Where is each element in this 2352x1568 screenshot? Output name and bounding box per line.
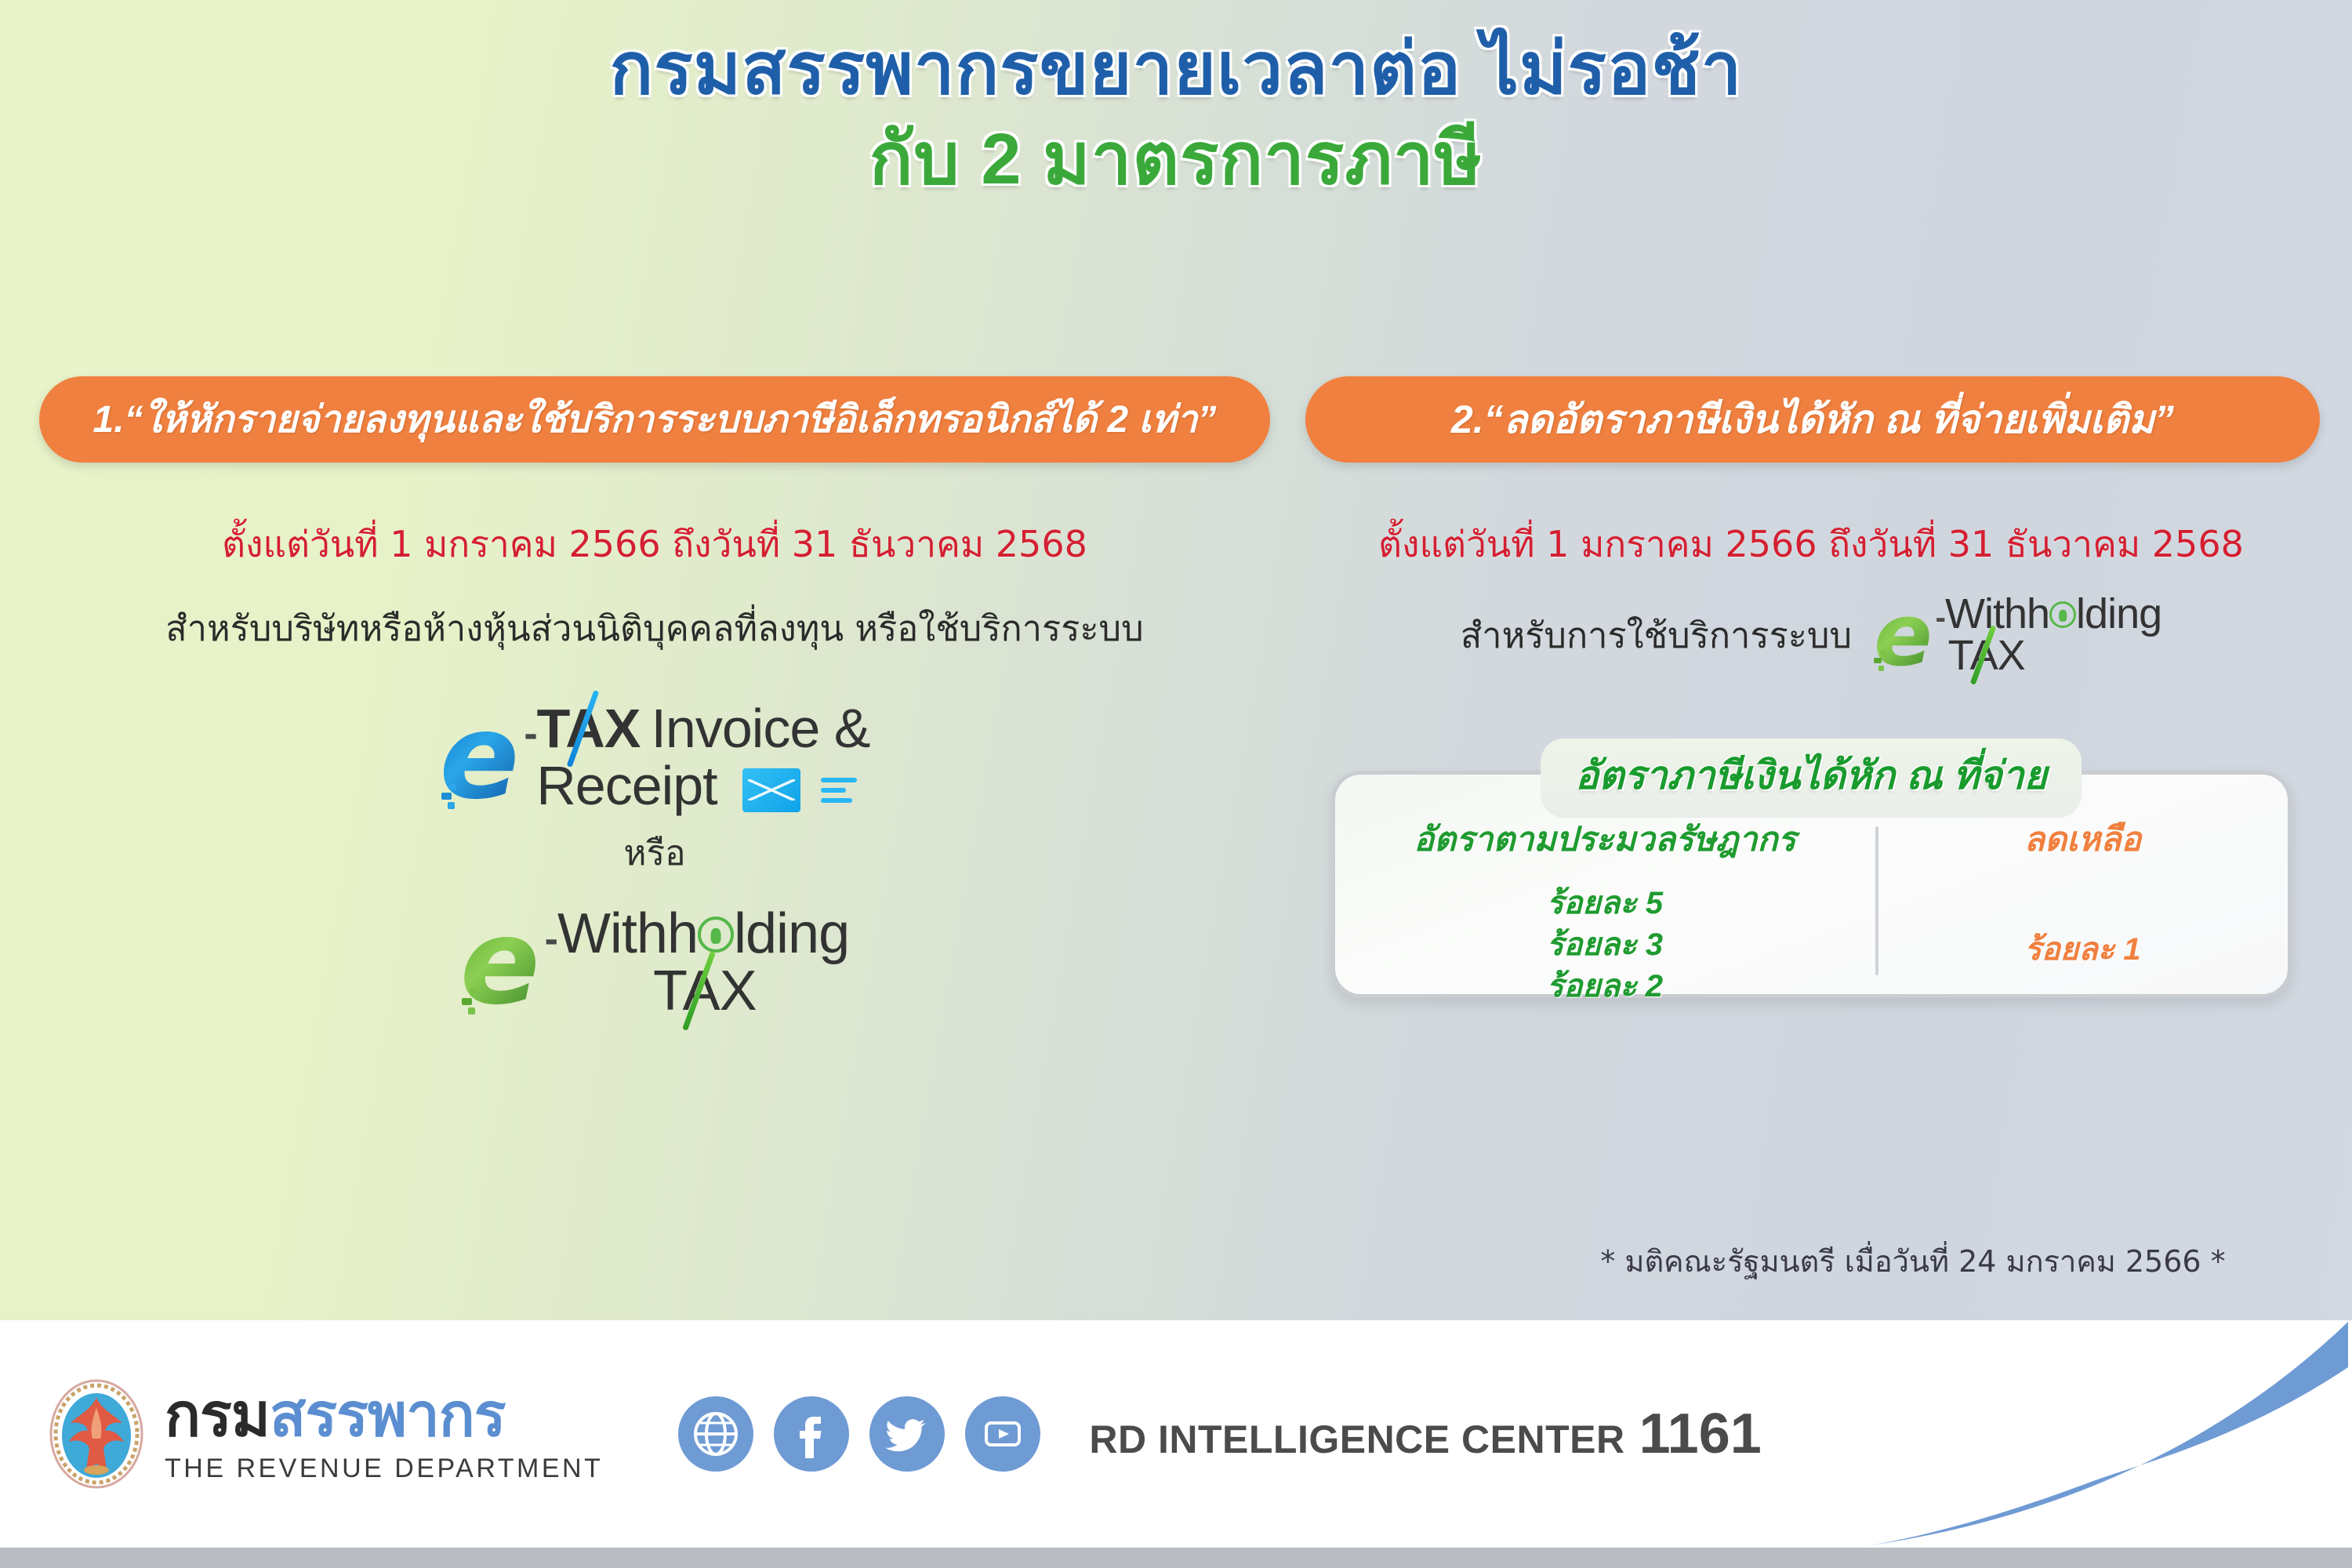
facebook-icon[interactable] — [774, 1396, 849, 1472]
social-icon-group — [678, 1396, 1040, 1472]
org-name-thai-main: สรรพากร — [270, 1382, 506, 1449]
etax-tax-word: TAX — [537, 702, 641, 756]
e-swoosh-green-icon: e — [460, 904, 540, 1022]
title-line-2: กับ 2 มาตรการภาษี — [0, 117, 2352, 202]
rdic-label: RD INTELLIGENCE CENTER — [1089, 1417, 1624, 1462]
etax-dash: - — [524, 711, 536, 757]
touch-pointer-icon — [698, 916, 734, 953]
ewht-word-part-1: Withh — [1945, 590, 2049, 637]
infographic-poster: กรมสรรพากรขยายเวลาต่อ ไม่รอช้า กับ 2 มาต… — [0, 0, 2352, 1568]
etax-invoice-word: Invoice & — [651, 698, 869, 759]
bottom-strip — [0, 1548, 2352, 1568]
rate-column-reduced: ลดเหลือ ร้อยละ 1 — [1878, 812, 2288, 994]
rate-column-header-statutory: อัตราตามประมวลรัษฎากร — [1335, 812, 1875, 866]
rate-column-header-reduced: ลดเหลือ — [1878, 812, 2288, 866]
cabinet-resolution-footnote: * มติคณะรัฐมนตรี เมื่อวันที่ 24 มกราคม 2… — [1521, 1237, 2305, 1285]
ewht-word-part-2: lding — [2076, 590, 2161, 637]
e-withholding-tax-logo-left: e -Withhlding TAX — [39, 904, 1270, 1022]
twitter-icon[interactable] — [869, 1396, 945, 1472]
ewht-dash: - — [1936, 601, 1945, 635]
ewht-tax-word: TAX — [653, 964, 757, 1019]
motion-dots-icon — [456, 986, 477, 1017]
measure-2-date-range: ตั้งแต่วันที่ 1 มกราคม 2566 ถึงวันที่ 31… — [1305, 516, 2317, 573]
ewht-dash: - — [545, 916, 557, 962]
measure-2-eligibility: สำหรับการใช้บริการระบบ — [1461, 607, 1852, 663]
rate-value: ร้อยละ 2 — [1335, 966, 1875, 1007]
rdic-phone-number: 1161 — [1639, 1402, 1762, 1466]
etax-invoice-receipt-logo: e -TAXInvoice & Receipt — [39, 699, 1270, 816]
garuda-seal-icon — [47, 1377, 146, 1490]
ewht-tax-word: TAX — [1948, 635, 2025, 677]
rate-value: ร้อยละ 5 — [1335, 883, 1875, 924]
ewht-word-part-2: lding — [734, 902, 849, 965]
e-swoosh-green-icon: e — [1874, 592, 1933, 678]
e-withholding-tax-logo-right: e -Withhlding TAX — [1874, 592, 2161, 678]
measure-1-banner: 1.“ให้หักรายจ่ายลงทุนและใช้บริการระบบภาษ… — [39, 376, 1270, 463]
speed-lines-icon — [821, 772, 857, 808]
motion-dots-icon — [1869, 648, 1886, 673]
globe-icon[interactable] — [678, 1396, 753, 1472]
footer-bar: กรมสรรพากร THE REVENUE DEPARTMENT — [0, 1320, 2352, 1548]
etax-receipt-word: Receipt — [536, 755, 717, 816]
rate-column-statutory: อัตราตามประมวลรัษฎากร ร้อยละ 5 ร้อยละ 3 … — [1335, 812, 1875, 994]
page-title: กรมสรรพากรขยายเวลาต่อ ไม่รอช้า กับ 2 มาต… — [0, 27, 2352, 201]
envelope-icon — [742, 768, 800, 812]
rate-card-title-tab: อัตราภาษีเงินได้หัก ณ ที่จ่าย — [1541, 739, 2082, 818]
measure-1-eligibility: สำหรับบริษัทหรือห้างหุ้นส่วนนิติบุคคลที่… — [39, 600, 1270, 656]
youtube-icon[interactable] — [965, 1396, 1040, 1472]
rate-value: ร้อยละ 3 — [1335, 924, 1875, 966]
rate-value: ร้อยละ 1 — [1878, 924, 2288, 974]
withholding-rate-card: อัตราภาษีเงินได้หัก ณ ที่จ่าย อัตราตามปร… — [1305, 771, 2317, 998]
rd-intelligence-center: RD INTELLIGENCE CENTER 1161 — [1089, 1402, 1761, 1466]
or-separator-label: หรือ — [39, 826, 1270, 880]
measure-2-column: 2.“ลดอัตราภาษีเงินได้หัก ณ ที่จ่ายเพิ่มเ… — [1305, 376, 2317, 998]
measure-1-date-range: ตั้งแต่วันที่ 1 มกราคม 2566 ถึงวันที่ 31… — [39, 516, 1270, 573]
ewht-word-part-1: Withh — [557, 902, 698, 965]
revenue-department-wordmark: กรมสรรพากร THE REVENUE DEPARTMENT — [165, 1386, 603, 1482]
measure-1-column: 1.“ให้หักรายจ่ายลงทุนและใช้บริการระบบภาษ… — [39, 376, 1270, 1022]
e-swoosh-blue-icon: e — [440, 699, 520, 816]
motion-dots-icon — [435, 781, 456, 811]
title-line-1: กรมสรรพากรขยายเวลาต่อ ไม่รอช้า — [0, 27, 2352, 112]
org-name-thai-prefix: กรม — [165, 1382, 270, 1449]
rate-card-title: อัตราภาษีเงินได้หัก ณ ที่จ่าย — [1575, 753, 2047, 797]
org-name-english: THE REVENUE DEPARTMENT — [165, 1455, 603, 1482]
measure-2-banner: 2.“ลดอัตราภาษีเงินได้หัก ณ ที่จ่ายเพิ่มเ… — [1305, 376, 2320, 463]
touch-pointer-icon — [2049, 601, 2076, 628]
